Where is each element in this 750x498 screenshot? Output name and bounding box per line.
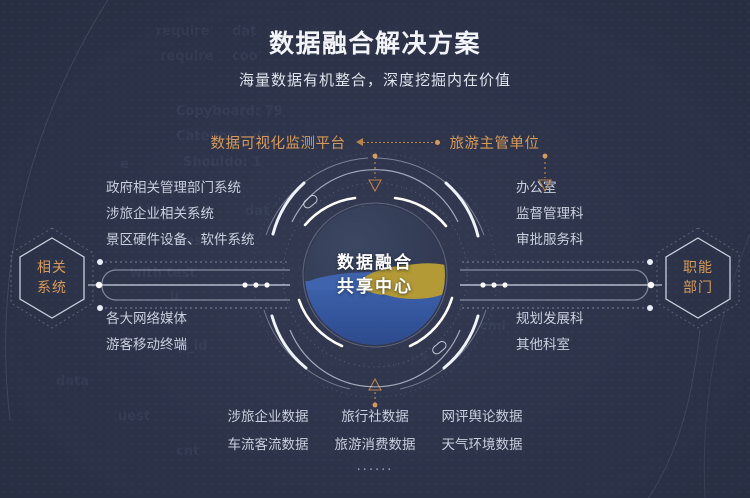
list-item: 各大网络媒体 — [106, 306, 187, 332]
list-item: 游客移动终端 — [106, 332, 187, 358]
left-source-list-bottom: 各大网络媒体 游客移动终端 — [106, 306, 187, 358]
center-line-1: 数据融合 — [337, 251, 413, 275]
svg-text:e: e — [120, 157, 129, 172]
svg-text:data: data — [56, 374, 89, 389]
list-item: 政府相关管理部门系统 — [106, 175, 255, 201]
list-item: 审批服务科 — [516, 227, 584, 253]
page-title: 数据融合解决方案 — [0, 24, 750, 60]
hexagon-right-line1: 职能 — [683, 258, 713, 278]
bottom-grid-row: 车流客流数据 旅游消费数据 天气环境数据 — [215, 433, 536, 453]
svg-text:u: u — [170, 289, 179, 304]
svg-text:Copyboard: 79: Copyboard: 79 — [176, 104, 283, 119]
grid-cell: 网评舆论数据 — [429, 405, 536, 425]
grid-cell: 旅游消费数据 — [322, 433, 429, 453]
hexagon-left-label: 相关 系统 — [8, 226, 96, 330]
grid-cell: 涉旅企业数据 — [215, 405, 322, 425]
center-hub-label: 数据融合 共享中心 — [250, 150, 500, 400]
hexagon-left-line1: 相关 — [37, 258, 67, 278]
list-item: 监督管理科 — [516, 201, 584, 227]
hexagon-right-line2: 部门 — [683, 278, 713, 298]
list-item: 规划发展科 — [516, 306, 584, 332]
infographic-canvas: require dat require coo Copyboard: 79 Ca… — [0, 0, 750, 498]
bottom-grid-row: 涉旅企业数据 旅行社数据 网评舆论数据 — [215, 405, 536, 425]
list-item: 办公室 — [516, 175, 584, 201]
grid-cell: 天气环境数据 — [429, 433, 536, 453]
hexagon-right-label: 职能 部门 — [654, 226, 742, 330]
list-item: 其他科室 — [516, 332, 584, 358]
grid-cell: 旅行社数据 — [322, 405, 429, 425]
grid-cell: 车流客流数据 — [215, 433, 322, 453]
center-hub[interactable]: 数据融合 共享中心 — [250, 150, 500, 400]
bottom-data-grid: 涉旅企业数据 旅行社数据 网评舆论数据 车流客流数据 旅游消费数据 天气环境数据… — [0, 405, 750, 478]
svg-text:with test: with test — [130, 266, 195, 281]
page-subtitle: 海量数据有机整合，深度挖掘内在价值 — [0, 69, 750, 90]
list-item: 景区硬件设备、软件系统 — [106, 227, 255, 253]
hexagon-functional-departments[interactable]: 职能 部门 — [654, 226, 742, 330]
center-line-2: 共享中心 — [337, 275, 413, 299]
list-item: 涉旅企业相关系统 — [106, 201, 255, 227]
hexagon-left-line2: 系统 — [37, 278, 67, 298]
right-department-list-top: 办公室 监督管理科 审批服务科 — [516, 175, 584, 253]
grid-ellipsis: ······ — [357, 463, 394, 478]
right-department-list-bottom: 规划发展科 其他科室 — [516, 306, 584, 358]
dotted-left-arrow-icon — [356, 137, 440, 147]
left-source-list-top: 政府相关管理部门系统 涉旅企业相关系统 景区硬件设备、软件系统 — [106, 175, 255, 253]
hexagon-related-systems[interactable]: 相关 系统 — [8, 226, 96, 330]
